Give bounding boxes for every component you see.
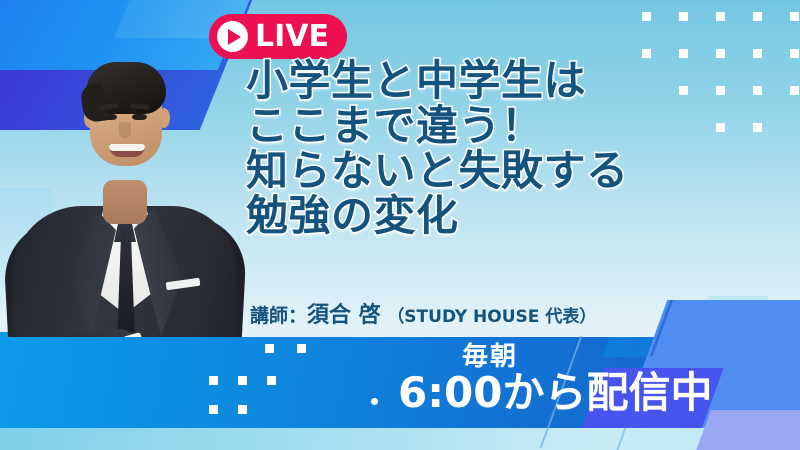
photo-neck [103, 180, 147, 224]
dot-grid-top-square [679, 12, 688, 21]
dot-grid-top-square [753, 12, 762, 21]
page-title: 小学生と中学生は ここまで違う！ 知らないと失敗する 勉強の変化 [246, 58, 766, 238]
dot-grid-top-square [642, 49, 651, 58]
dot-grid-band-square [297, 344, 306, 353]
photo-mouth [109, 144, 145, 157]
presenter-organization: （STUDY HOUSE 代表） [387, 307, 596, 327]
headline-line-3: 知らないと失敗する [246, 148, 766, 193]
dot-grid-band-square [267, 376, 276, 385]
dot-grid-top-square [679, 49, 688, 58]
headline-line-1: 小学生と中学生は [246, 58, 766, 103]
dot-grid-band-square [209, 376, 218, 385]
banner-canvas: LIVE 小学生と中学生は ここまで違う！ 知らないと失敗する 勉強の変化 講師… [0, 0, 800, 450]
schedule-band-top-text: 毎朝 [462, 344, 518, 370]
presenter-credit: 講師：須合 啓 （STUDY HOUSE 代表） [250, 297, 596, 329]
dot-grid-band-square [238, 376, 247, 385]
decor-bottom-strip [0, 428, 800, 450]
live-badge[interactable]: LIVE [209, 14, 347, 59]
photo-eye-right [132, 114, 147, 120]
dot-grid-top-square [642, 12, 651, 21]
dot-grid-top-square [790, 86, 799, 95]
dot-grid-top-square [716, 12, 725, 21]
dot-grid-band-square [265, 344, 274, 353]
headline-line-4: 勉強の変化 [246, 193, 766, 238]
photo-nose [119, 122, 131, 138]
dot-grid-top-square [790, 49, 799, 58]
presenter-name: 須合 啓 [307, 303, 381, 328]
headline-line-2: ここまで違う！ [246, 103, 766, 148]
dot-grid-band-circle [371, 398, 378, 405]
dot-grid-top-square [716, 49, 725, 58]
presenter-label: 講師： [250, 305, 307, 327]
schedule-band-main-text: 6:00から配信中 [398, 372, 712, 414]
dot-grid-top-square [753, 49, 762, 58]
dot-grid-band-square [209, 405, 218, 414]
play-icon [217, 21, 248, 52]
dot-grid-band-square [238, 405, 247, 414]
photo-teeth [109, 144, 145, 151]
photo-eye-left [102, 114, 117, 120]
dot-grid-top-square [790, 12, 799, 21]
live-badge-label: LIVE [255, 22, 329, 52]
